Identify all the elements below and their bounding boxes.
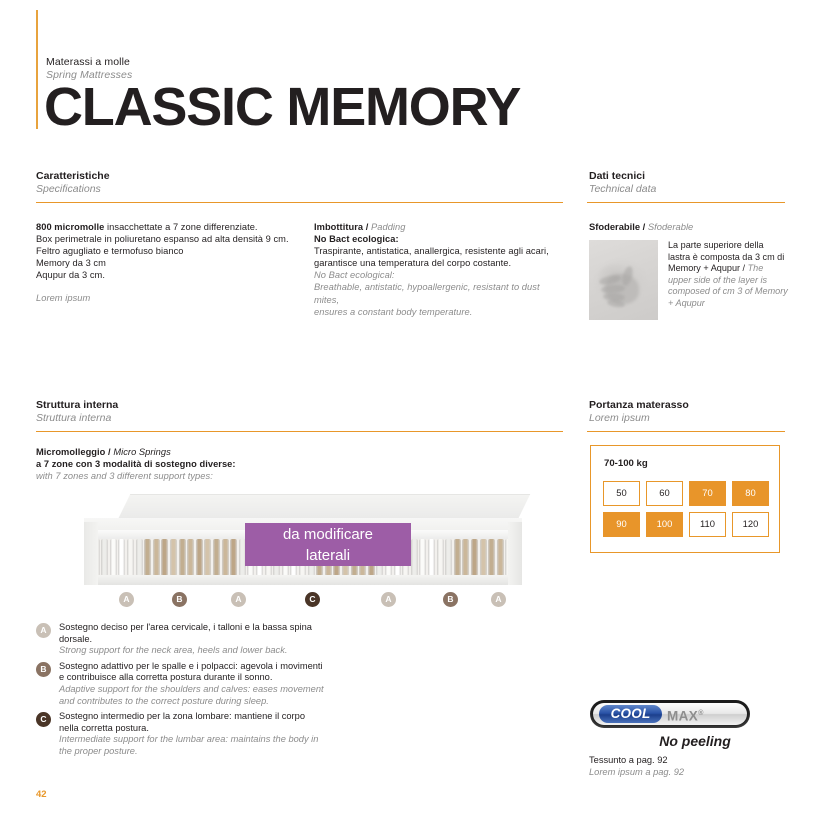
- spring-coil: [136, 539, 143, 576]
- divider-mattress-support: [587, 431, 785, 432]
- section-title-support-it: Portanza materasso: [589, 399, 689, 412]
- zone-legend: ASostegno deciso per l'area cervicale, i…: [36, 622, 326, 762]
- weight-option-50[interactable]: 50: [603, 481, 640, 506]
- zone-marker-a-6: A: [491, 592, 506, 607]
- specs-line1-bold: 800 micromolle: [36, 222, 104, 232]
- spring-coil: [480, 539, 487, 576]
- section-title-structure-it: Struttura interna: [36, 399, 118, 412]
- coolmax-registered-icon: ®: [698, 710, 704, 717]
- annotation-line-1: da modificare: [245, 524, 411, 545]
- sfoderabile-label-it: Sfoderabile: [589, 221, 640, 232]
- micro-springs-heading-en: Micro Springs: [113, 447, 170, 457]
- zone-marker-a-2: A: [231, 592, 246, 607]
- padding-heading-en: Padding: [371, 222, 405, 232]
- section-heading-mattress-support: Portanza materasso Lorem ipsum: [589, 399, 689, 425]
- micro-springs-intro: Micromolleggio / Micro Springs a 7 zone …: [36, 446, 336, 482]
- zone-marker-c-3: C: [305, 592, 320, 607]
- weight-option-60[interactable]: 60: [646, 481, 683, 506]
- spring-coil: [445, 539, 452, 576]
- sfoderabile-label-sep: /: [640, 221, 648, 232]
- weight-option-100[interactable]: 100: [646, 512, 683, 537]
- padding-body-en-2: ensures a constant body temperature.: [314, 307, 472, 317]
- specs-footer-note: Lorem ipsum: [36, 293, 90, 303]
- spring-coil: [179, 539, 186, 576]
- spring-coil: [101, 539, 108, 576]
- section-title-specifications-en: Specifications: [36, 183, 110, 196]
- spring-coil: [419, 539, 426, 576]
- legend-text-it: Sostegno deciso per l'area cervicale, i …: [59, 622, 326, 645]
- coolmax-tagline: No peeling: [620, 733, 770, 749]
- legend-badge-b: B: [36, 662, 51, 677]
- section-heading-technical-data: Dati tecnici Technical data: [589, 170, 656, 196]
- spring-coil: [230, 539, 237, 576]
- spring-coil: [127, 539, 134, 576]
- coolmax-logo-plate: COOL MAX®: [593, 703, 747, 725]
- section-heading-internal-structure: Struttura interna Struttura interna: [36, 399, 118, 425]
- spring-coil: [110, 539, 117, 576]
- specs-line4: Memory da 3 cm: [36, 258, 106, 268]
- fabric-reference-en: Lorem ipsum a pag. 92: [589, 767, 684, 779]
- divider-specifications: [36, 202, 563, 203]
- hand-imprint-photo: [589, 240, 658, 320]
- header-accent-bar: [36, 10, 38, 129]
- spring-coil: [428, 539, 435, 576]
- fabric-reference: Tessunto a pag. 92 Lorem ipsum a pag. 92: [589, 755, 684, 779]
- weight-option-90[interactable]: 90: [603, 512, 640, 537]
- padding-heading-sep: /: [363, 222, 371, 232]
- section-title-technical-it: Dati tecnici: [589, 170, 656, 183]
- eyebrow-italian: Materassi a molle: [46, 56, 446, 69]
- spring-coil: [161, 539, 168, 576]
- spring-coil: [454, 539, 461, 576]
- specs-line2: Box perimetrale in poliuretano espanso a…: [36, 234, 289, 244]
- micro-springs-line-it: a 7 zone con 3 modalità di sostegno dive…: [36, 459, 236, 469]
- legend-row-b: BSostegno adattivo per le spalle e i pol…: [36, 661, 326, 707]
- coolmax-max-text: MAX: [667, 709, 698, 724]
- weight-option-110[interactable]: 110: [689, 512, 726, 537]
- spring-coil: [153, 539, 160, 576]
- spring-coil: [497, 539, 504, 576]
- spring-coil: [488, 539, 495, 576]
- spring-coil: [170, 539, 177, 576]
- zone-marker-b-5: B: [443, 592, 458, 607]
- legend-text-en: Strong support for the neck area, heels …: [59, 645, 326, 657]
- sfoderabile-label-en: Sfoderable: [648, 221, 693, 232]
- legend-row-a: ASostegno deciso per l'area cervicale, i…: [36, 622, 326, 657]
- sfoderabile-label: Sfoderabile / Sfoderable: [589, 221, 693, 232]
- sfoderabile-text-it: La parte superiore della lastra è compos…: [668, 240, 784, 273]
- weight-option-80[interactable]: 80: [732, 481, 769, 506]
- legend-badge-a: A: [36, 623, 51, 638]
- portanza-range-label: 70-100 kg: [604, 458, 648, 469]
- coolmax-logo-max: MAX®: [667, 705, 704, 726]
- section-title-support-en: Lorem ipsum: [589, 412, 689, 425]
- divider-internal-structure: [36, 431, 563, 432]
- specs-line3: Feltro agugliato e termofuso bianco: [36, 246, 184, 256]
- padding-sub-en: No Bact ecological:: [314, 270, 395, 280]
- catalog-page: Materassi a molle Spring Mattresses CLAS…: [0, 0, 822, 822]
- weight-grid[interactable]: 5060708090100110120: [603, 481, 771, 543]
- section-heading-specifications: Caratteristiche Specifications: [36, 170, 110, 196]
- annotation-note: da modificare laterali: [245, 523, 411, 566]
- spring-coil: [144, 539, 151, 576]
- spring-coil: [213, 539, 220, 576]
- weight-option-70[interactable]: 70: [689, 481, 726, 506]
- spring-coil: [204, 539, 211, 576]
- spring-coil: [471, 539, 478, 576]
- coolmax-logo: COOL MAX®: [590, 700, 750, 728]
- divider-technical-data: [587, 202, 785, 203]
- mattress-left-edge: [84, 522, 98, 585]
- micro-springs-line-en: with 7 zones and 3 different support typ…: [36, 471, 213, 481]
- zone-marker-a-0: A: [119, 592, 134, 607]
- legend-text-en: Adaptive support for the shoulders and c…: [59, 684, 326, 707]
- page-number: 42: [36, 789, 47, 800]
- legend-text-en: Intermediate support for the lumbar area…: [59, 734, 326, 757]
- fabric-reference-it: Tessunto a pag. 92: [589, 755, 684, 767]
- specs-line5: Aqupur da 3 cm.: [36, 270, 105, 280]
- section-title-technical-en: Technical data: [589, 183, 656, 196]
- zone-marker-b-1: B: [172, 592, 187, 607]
- legend-row-c: CSostegno intermedio per la zona lombare…: [36, 711, 326, 757]
- specs-line1-rest: insacchettate a 7 zone differenziate.: [104, 222, 257, 232]
- spring-coil: [196, 539, 203, 576]
- legend-text-it: Sostegno intermedio per la zona lombare:…: [59, 711, 326, 734]
- padding-body-it-2: garantisce una temperatura del corpo cos…: [314, 258, 511, 268]
- spring-coil: [118, 539, 125, 576]
- padding-body-it-1: Traspirante, antistatica, anallergica, r…: [314, 246, 549, 256]
- coolmax-logo-cool: COOL: [599, 705, 662, 723]
- legend-badge-c: C: [36, 712, 51, 727]
- padding-sub-it: No Bact ecologica:: [314, 234, 399, 244]
- spring-coil: [437, 539, 444, 576]
- weight-row-2: 90100110120: [603, 512, 771, 537]
- page-title: CLASSIC MEMORY: [44, 78, 520, 136]
- mattress-base-layer: [84, 575, 522, 585]
- padding-body-en-1: Breathable, antistatic, hypoallergenic, …: [314, 282, 540, 304]
- section-title-specifications-it: Caratteristiche: [36, 170, 110, 183]
- legend-text-it: Sostegno adattivo per le spalle e i polp…: [59, 661, 326, 684]
- spring-coil: [222, 539, 229, 576]
- annotation-line-2: laterali: [245, 545, 411, 566]
- section-title-structure-en: Struttura interna: [36, 412, 118, 425]
- zone-marker-a-4: A: [381, 592, 396, 607]
- specs-column-one: 800 micromolle insacchettate a 7 zone di…: [36, 221, 306, 305]
- mattress-right-edge: [508, 522, 522, 585]
- spring-coil: [411, 539, 418, 576]
- specs-column-two: Imbottitura / Padding No Bact ecologica:…: [314, 221, 564, 318]
- weight-option-120[interactable]: 120: [732, 512, 769, 537]
- sfoderabile-description: La parte superiore della lastra è compos…: [668, 240, 788, 310]
- spring-coil: [187, 539, 194, 576]
- weight-row-1: 50607080: [603, 481, 771, 506]
- spring-coil: [462, 539, 469, 576]
- padding-heading-it: Imbottitura: [314, 222, 363, 232]
- micro-springs-heading-it: Micromolleggio: [36, 447, 105, 457]
